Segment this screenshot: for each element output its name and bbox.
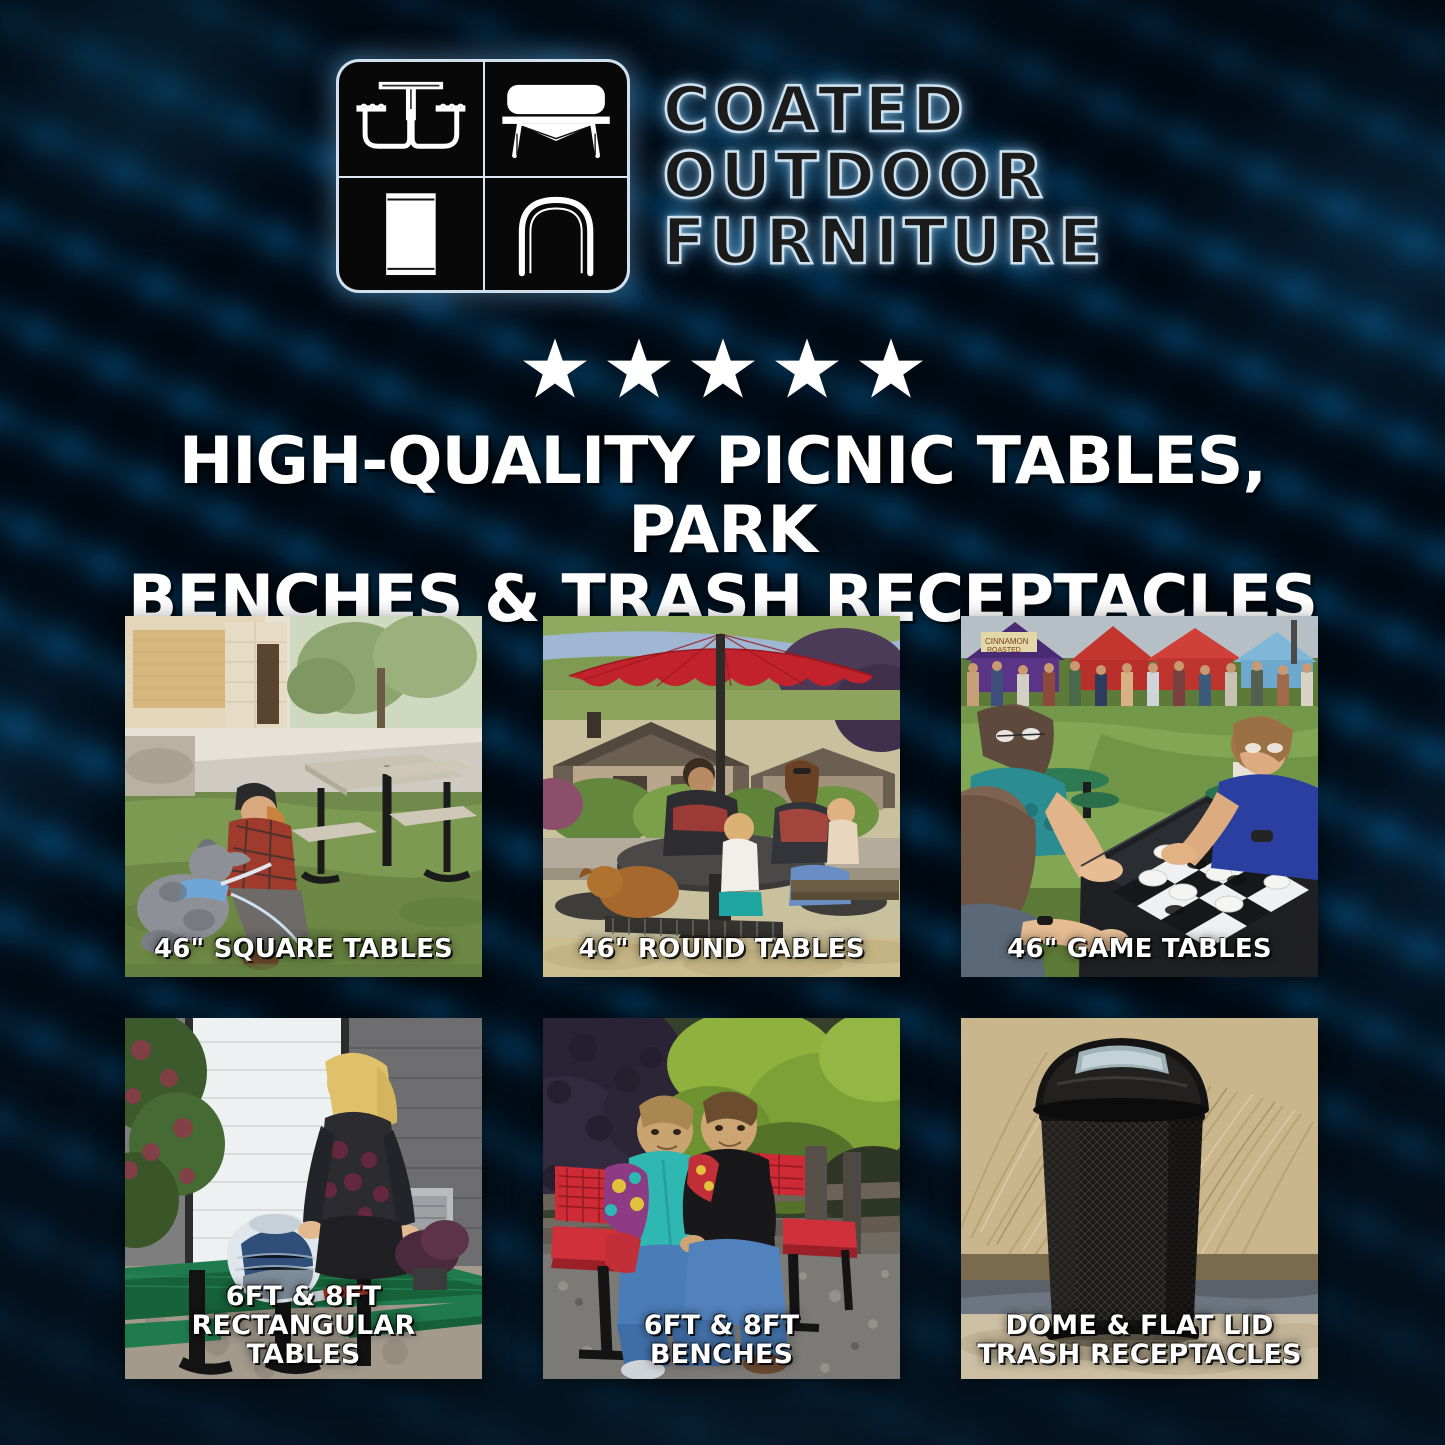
page-title: HIGH-QUALITY PICNIC TABLES, PARK BENCHES… bbox=[98, 428, 1348, 635]
brand-logo: COATED OUTDOOR FURNITURE bbox=[0, 62, 1445, 290]
star-rating bbox=[0, 336, 1445, 400]
product-caption: 46" SQUARE TABLES bbox=[125, 935, 482, 963]
product-card-square-tables[interactable]: 46" SQUARE TABLES bbox=[125, 616, 482, 977]
product-card-rectangular-tables[interactable]: 6FT & 8FT RECTANGULAR TABLES bbox=[125, 1018, 482, 1379]
product-caption: 6FT & 8FT BENCHES bbox=[543, 1311, 900, 1369]
picnic-table-icon bbox=[339, 62, 483, 176]
product-card-grid: 46" SQUARE TABLES bbox=[125, 616, 1321, 1379]
star-icon bbox=[690, 336, 756, 400]
logo-icon-grid bbox=[339, 62, 627, 290]
product-caption: DOME & FLAT LID TRASH RECEPTACLES bbox=[961, 1311, 1318, 1369]
product-caption: 6FT & 8FT RECTANGULAR TABLES bbox=[125, 1282, 482, 1369]
svg-text:ROASTED: ROASTED bbox=[987, 647, 1021, 654]
brand-name-line-1: COATED bbox=[663, 78, 1106, 142]
product-card-round-tables[interactable]: 46" ROUND TABLES bbox=[543, 616, 900, 977]
star-icon bbox=[606, 336, 672, 400]
product-card-benches[interactable]: 6FT & 8FT BENCHES bbox=[543, 1018, 900, 1379]
star-icon bbox=[522, 336, 588, 400]
product-caption: 46" ROUND TABLES bbox=[543, 935, 900, 963]
brand-name-line-2: OUTDOOR bbox=[663, 144, 1106, 208]
product-photo-round-tables bbox=[543, 616, 900, 977]
product-caption: 46" GAME TABLES bbox=[961, 935, 1318, 963]
brand-name-line-3: FURNITURE bbox=[663, 210, 1106, 274]
product-card-trash-receptacles[interactable]: DOME & FLAT LID TRASH RECEPTACLES bbox=[961, 1018, 1318, 1379]
product-photo-game-tables: CINNAMON ROASTED bbox=[961, 616, 1318, 977]
poster-canvas: COATED OUTDOOR FURNITURE HIGH-QUALITY PI… bbox=[0, 0, 1445, 1445]
svg-text:CINNAMON: CINNAMON bbox=[985, 637, 1029, 646]
brand-wordmark: COATED OUTDOOR FURNITURE bbox=[663, 78, 1106, 274]
bike-rack-arch-icon bbox=[483, 176, 627, 290]
product-card-game-tables[interactable]: CINNAMON ROASTED bbox=[961, 616, 1318, 977]
product-photo-square-tables bbox=[125, 616, 482, 977]
headline-line-1: HIGH-QUALITY PICNIC TABLES, PARK bbox=[179, 424, 1266, 568]
trash-receptacle-icon bbox=[339, 176, 483, 290]
star-icon bbox=[774, 336, 840, 400]
star-icon bbox=[858, 336, 924, 400]
park-bench-icon bbox=[483, 62, 627, 176]
